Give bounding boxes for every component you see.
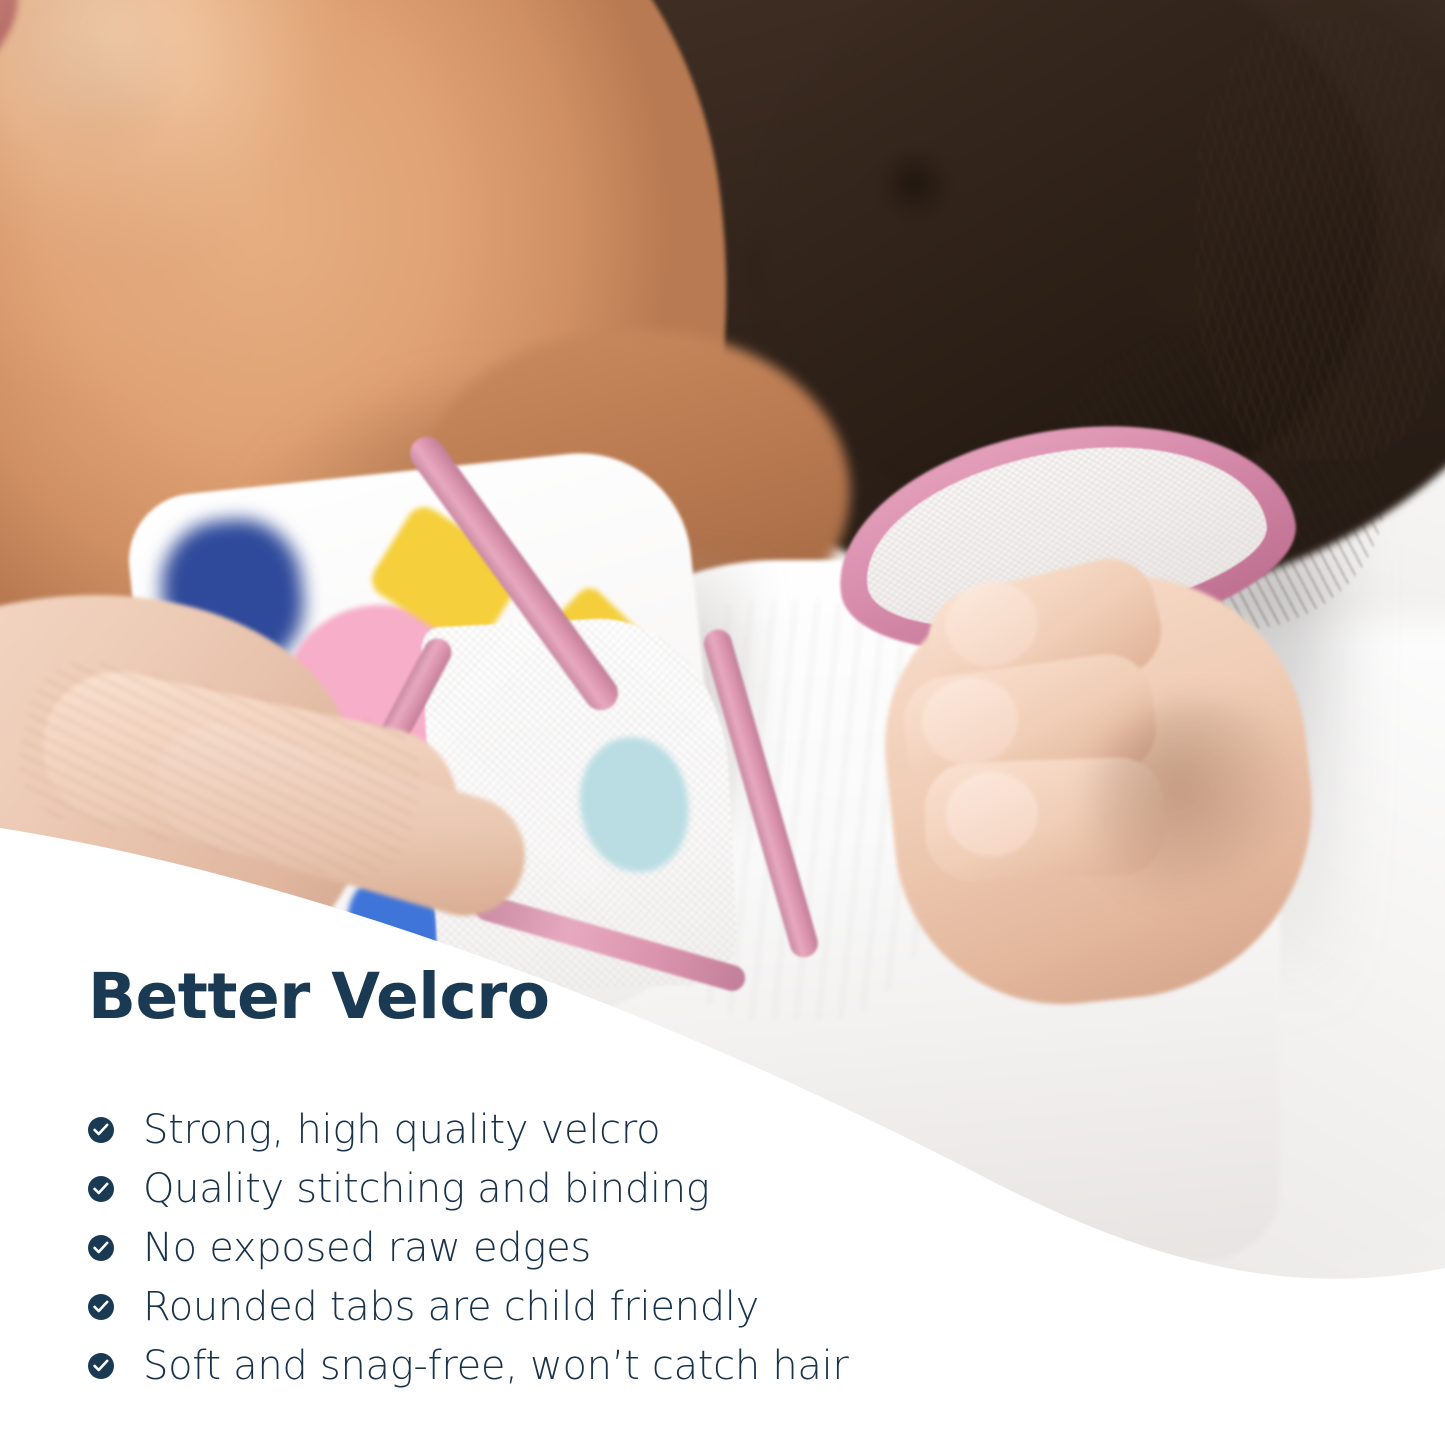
feature-label: Rounded tabs are child friendly <box>143 1287 759 1327</box>
feature-list: Strong, high quality velcro Quality stit… <box>88 1100 1188 1395</box>
list-item: Soft and snag-free, won’t catch hair <box>88 1336 1188 1395</box>
page-title: Better Velcro <box>88 960 550 1033</box>
list-item: Quality stitching and binding <box>88 1159 1188 1218</box>
list-item: No exposed raw edges <box>88 1218 1188 1277</box>
check-circle-icon <box>88 1353 114 1379</box>
feature-panel: Better Velcro Strong, high quality velcr… <box>0 960 1445 1445</box>
feature-label: Strong, high quality velcro <box>143 1110 660 1150</box>
check-circle-icon <box>88 1176 114 1202</box>
check-circle-icon <box>88 1117 114 1143</box>
check-circle-icon <box>88 1294 114 1320</box>
list-item: Strong, high quality velcro <box>88 1100 1188 1159</box>
infographic-canvas: Better Velcro Strong, high quality velcr… <box>0 0 1445 1445</box>
feature-label: Soft and snag-free, won’t catch hair <box>143 1346 849 1386</box>
feature-label: Quality stitching and binding <box>143 1169 709 1209</box>
feature-label: No exposed raw edges <box>143 1228 591 1268</box>
knuckle-shadow <box>1090 700 1310 910</box>
list-item: Rounded tabs are child friendly <box>88 1277 1188 1336</box>
check-circle-icon <box>88 1235 114 1261</box>
